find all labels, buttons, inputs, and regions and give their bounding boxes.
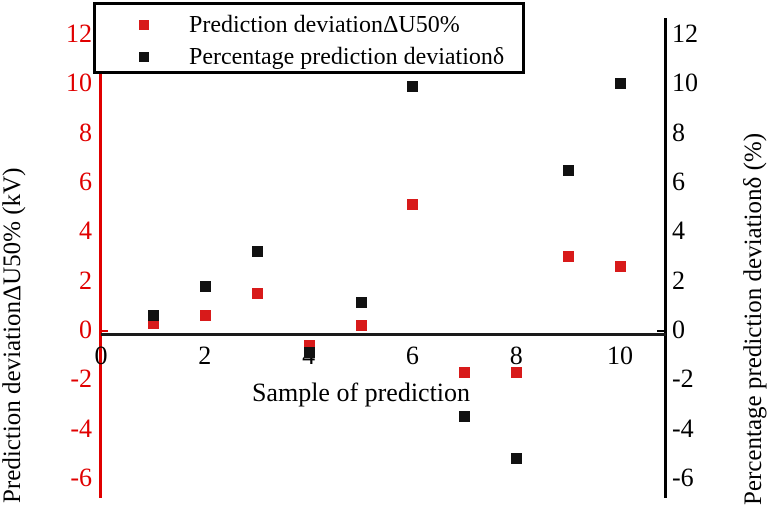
data-point-deviation-2	[200, 310, 211, 321]
data-point-percentage-5	[356, 297, 367, 308]
data-point-deviation-8	[511, 367, 522, 378]
x-tick-2: 2	[183, 343, 227, 369]
y-tick-right-6: 6	[672, 169, 718, 195]
y-tick-right-4: 4	[672, 218, 718, 244]
y-tick-left-12: 12	[46, 21, 92, 47]
data-point-percentage-4	[304, 347, 315, 358]
y-tick-right-neg2: -2	[672, 366, 718, 392]
y-axis-left-line	[99, 18, 102, 498]
legend-marker-red-square	[139, 20, 149, 30]
x-tick-10: 10	[598, 343, 642, 369]
y-axis-right-line	[664, 18, 667, 498]
y-axis-right-title: Percentage prediction deviationδ (%)	[741, 10, 766, 505]
data-point-percentage-6	[407, 81, 418, 92]
x-tick-8: 8	[494, 343, 538, 369]
y-tick-left-2: 2	[46, 268, 92, 294]
y-tick-left-neg4: -4	[46, 416, 92, 442]
x-tick-6: 6	[390, 343, 434, 369]
y-tick-mark-right-0	[657, 330, 666, 332]
y-tick-left-10: 10	[46, 70, 92, 96]
data-point-percentage-8	[511, 453, 522, 464]
data-point-deviation-10	[615, 261, 626, 272]
y-tick-right-neg6: -6	[672, 465, 718, 491]
y-tick-right-0: 0	[672, 317, 718, 343]
legend-item-1: Percentage prediction deviationδ	[96, 41, 522, 73]
x-axis-line	[101, 333, 666, 336]
y-tick-right-10: 10	[672, 70, 718, 96]
y-tick-left-4: 4	[46, 218, 92, 244]
data-point-deviation-7	[459, 367, 470, 378]
data-point-deviation-9	[563, 251, 574, 262]
legend-item-0: Prediction deviationΔU50%	[96, 9, 522, 41]
data-point-deviation-3	[252, 288, 263, 299]
y-tick-left-8: 8	[46, 120, 92, 146]
data-point-percentage-1	[148, 310, 159, 321]
chart-figure: Prediction deviationΔU50% (kV) Percentag…	[0, 0, 774, 507]
data-point-percentage-3	[252, 246, 263, 257]
data-point-percentage-9	[563, 165, 574, 176]
data-point-percentage-7	[459, 411, 470, 422]
chart-legend: Prediction deviationΔU50% Percentage pre…	[93, 2, 525, 74]
legend-label-percentage-prediction-deviation: Percentage prediction deviationδ	[189, 45, 504, 69]
y-tick-mark-left-0	[99, 330, 108, 332]
y-tick-right-8: 8	[672, 120, 718, 146]
y-tick-left-0: 0	[46, 317, 92, 343]
data-point-deviation-5	[356, 320, 367, 331]
data-point-deviation-6	[407, 199, 418, 210]
y-axis-left-title: Prediction deviationΔU50% (kV)	[0, 8, 25, 503]
y-tick-right-neg4: -4	[672, 416, 718, 442]
data-point-percentage-2	[200, 281, 211, 292]
x-axis-title: Sample of prediction	[101, 378, 621, 408]
legend-marker-black-square	[139, 52, 149, 62]
y-tick-left-neg2: -2	[46, 366, 92, 392]
y-tick-left-neg6: -6	[46, 465, 92, 491]
y-tick-left-6: 6	[46, 169, 92, 195]
y-tick-right-2: 2	[672, 268, 718, 294]
legend-label-prediction-deviation: Prediction deviationΔU50%	[189, 13, 460, 37]
x-tick-0: 0	[79, 343, 123, 369]
y-tick-right-12: 12	[672, 21, 718, 47]
data-point-percentage-10	[615, 78, 626, 89]
